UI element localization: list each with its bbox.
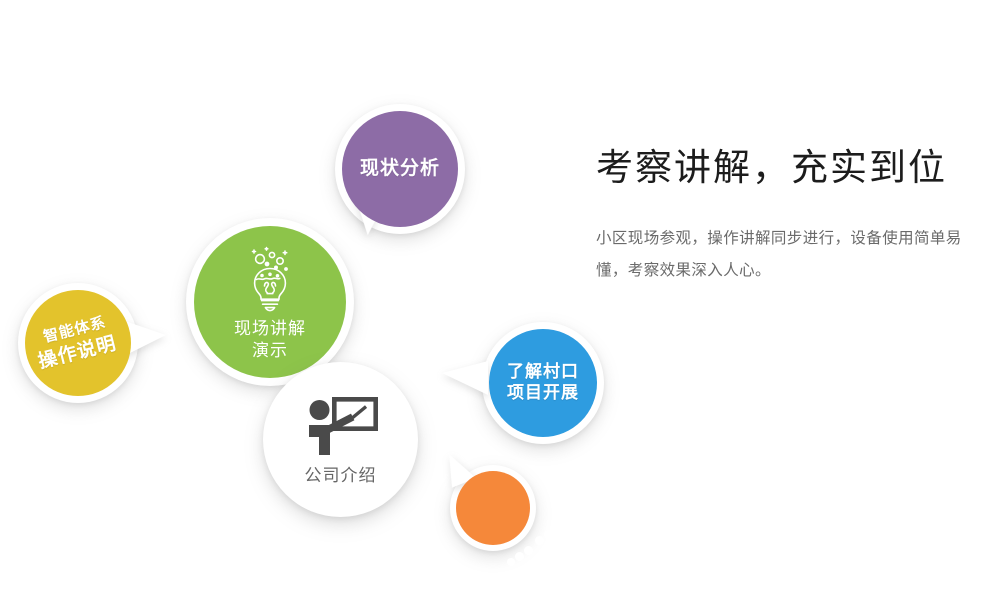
bubble-green-disc: 现场讲解 演示 xyxy=(194,226,346,378)
bubble-white-label: 公司介绍 xyxy=(269,461,412,486)
bubble-yellow-disc: 智能体系 操作说明 xyxy=(25,290,131,396)
bubble-white-company-intro[interactable]: 公司介绍 xyxy=(263,362,418,517)
lightbulb-icon xyxy=(194,242,346,312)
copy-block: 考察讲解，充实到位 小区现场参观，操作讲解同步进行，设备使用简单易懂，考察效果深… xyxy=(596,148,988,287)
bubble-yellow-system-manual[interactable]: 智能体系 操作说明 xyxy=(18,283,138,403)
infographic-canvas: 现状分析 xyxy=(0,0,1000,600)
bubble-blue-tail xyxy=(442,361,488,395)
bubble-blue-village-project[interactable]: 了解村口 项目开展 xyxy=(482,322,604,444)
bubble-blue-label-line1: 了解村口 xyxy=(507,362,579,381)
bubble-purple-status-analysis[interactable]: 现状分析 xyxy=(335,104,465,234)
bubble-purple-disc: 现状分析 xyxy=(342,111,458,227)
bubble-green-label-line2: 演示 xyxy=(252,341,288,360)
bubble-yellow-label: 智能体系 操作说明 xyxy=(21,309,134,377)
bubble-green-label-line1: 现场讲解 xyxy=(234,319,306,338)
bubble-blue-label-line2: 项目开展 xyxy=(507,383,579,402)
page-description: 小区现场参观，操作讲解同步进行，设备使用简单易懂，考察效果深入人心。 xyxy=(596,189,968,287)
bubble-orange-disc xyxy=(456,471,530,545)
bubble-white-disc: 公司介绍 xyxy=(269,368,412,511)
page-title: 考察讲解，充实到位 xyxy=(596,148,988,189)
bubble-blue-disc: 了解村口 项目开展 xyxy=(489,329,597,437)
bubble-orange-more[interactable] xyxy=(450,465,536,551)
bubble-purple-label: 现状分析 xyxy=(342,157,458,180)
bubble-green-label: 现场讲解 演示 xyxy=(194,318,346,362)
bubble-green-onsite-demo[interactable]: 现场讲解 演示 xyxy=(186,218,354,386)
bubble-blue-label: 了解村口 项目开展 xyxy=(489,362,597,403)
presenter-whiteboard-icon xyxy=(269,393,412,455)
